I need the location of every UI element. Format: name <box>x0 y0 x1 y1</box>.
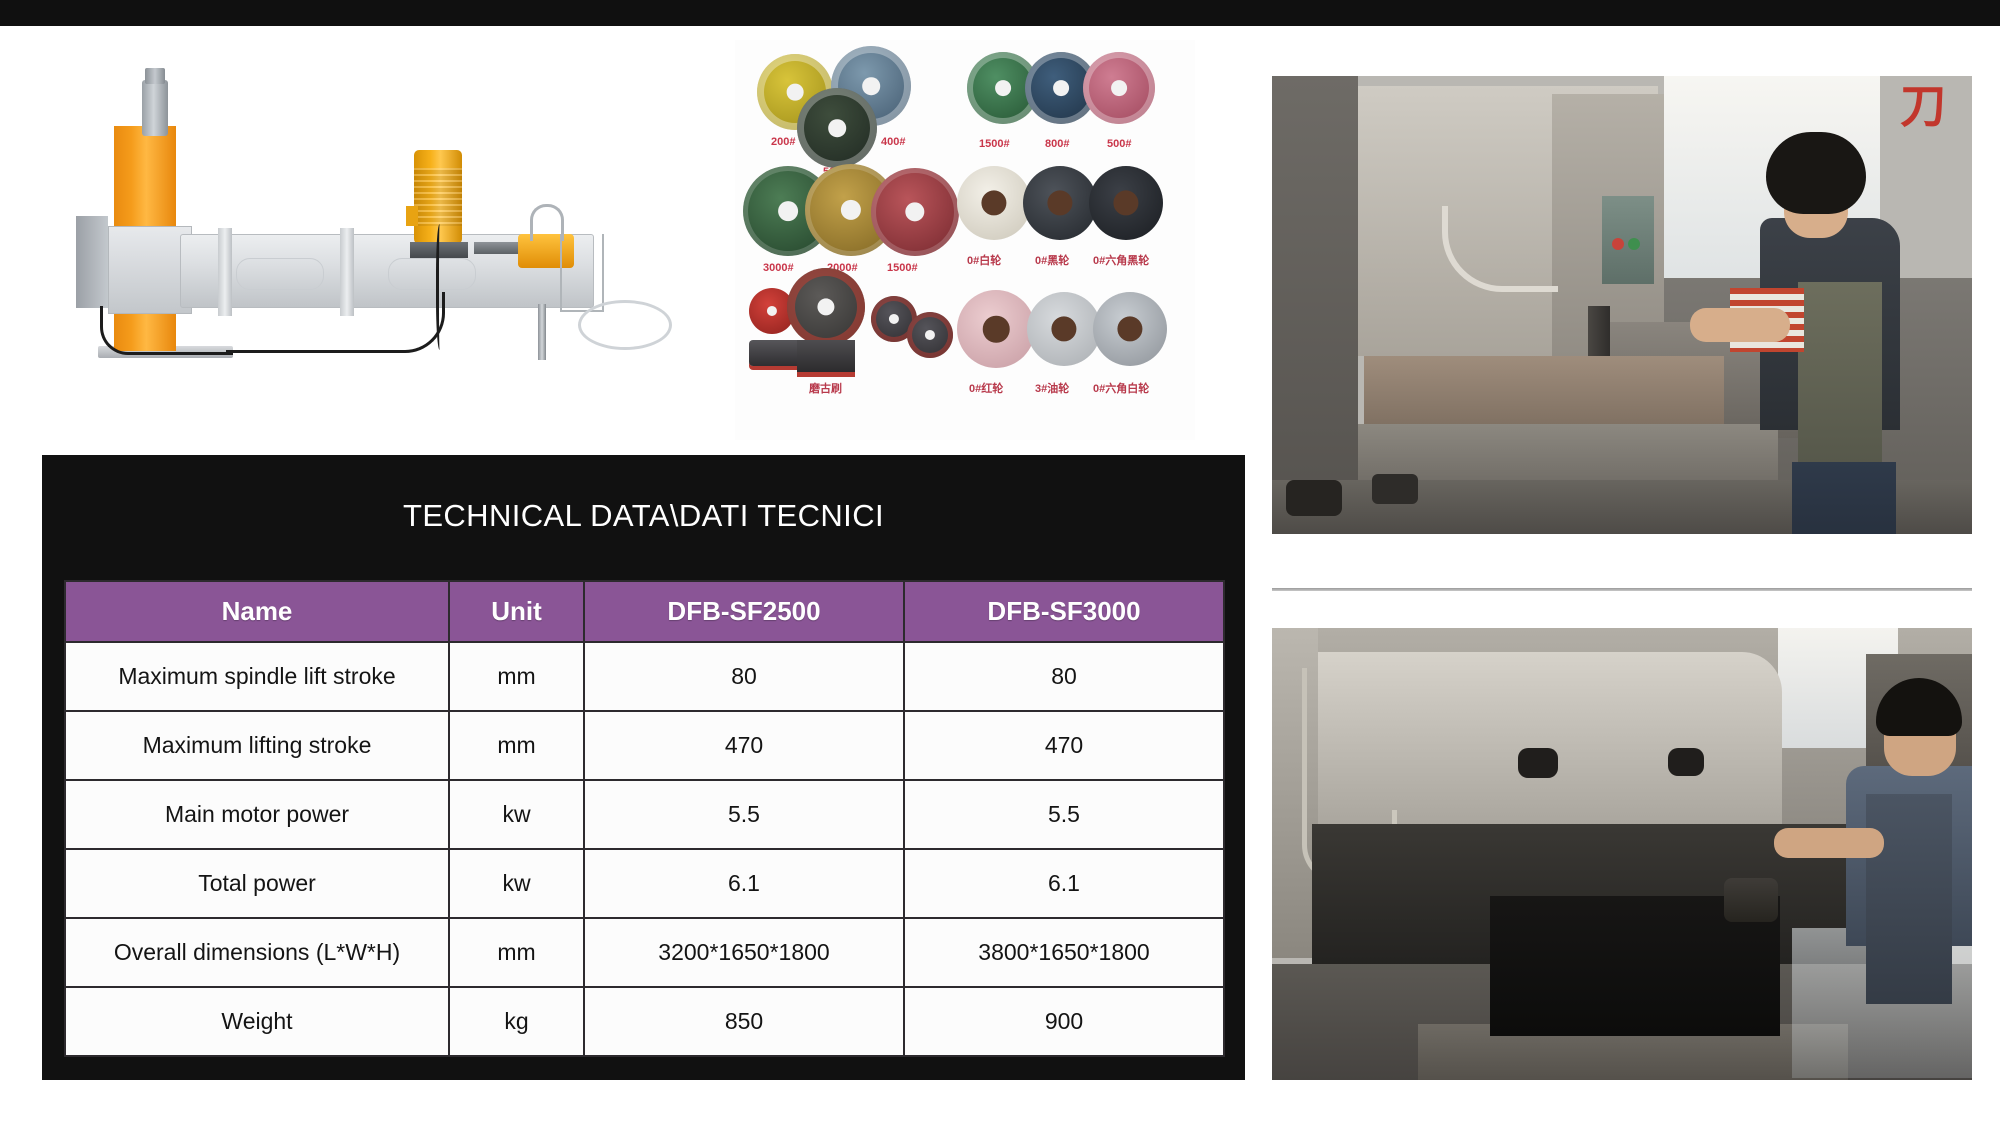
column-header-unit: Unit <box>449 581 584 642</box>
photo1-operator-arm <box>1690 308 1790 342</box>
photo2-operator-apron <box>1866 794 1952 1004</box>
machine-motor-cooling-fins <box>414 168 462 226</box>
workshop-photo-bottom <box>1272 628 1972 1080</box>
cell-unit: mm <box>449 711 584 780</box>
photo2-operator-arm <box>1774 828 1884 858</box>
machine-product-photo <box>40 28 680 438</box>
grit-label-400: 400# <box>881 136 905 148</box>
photo2-casting-hole-right <box>1668 748 1704 776</box>
machine-column-cap <box>145 68 165 84</box>
machine-back-plate <box>76 216 108 308</box>
machine-column-shaft <box>142 80 168 136</box>
cell-spec-name: Main motor power <box>65 780 449 849</box>
machine-power-cable-motor <box>436 224 445 350</box>
machine-power-cable-left <box>100 306 233 355</box>
cell-spec-name: Weight <box>65 987 449 1056</box>
cell-spec-name: Maximum lifting stroke <box>65 711 449 780</box>
machine-motor-junction-box <box>406 206 418 226</box>
table-header: Name Unit DFB-SF2500 DFB-SF3000 <box>65 581 1224 642</box>
grit-label-200: 200# <box>771 136 795 148</box>
grinding-disc-50 <box>797 88 877 168</box>
cell-sf3000: 470 <box>904 711 1224 780</box>
antique-brush-block <box>749 340 803 366</box>
wheel-label-hex-black: 0#六角黑轮 <box>1093 252 1149 268</box>
buff-wheel-white <box>957 166 1031 240</box>
workshop-photo-top: 刀 <box>1272 76 1972 534</box>
grit-label-1500b: 1500# <box>887 262 918 274</box>
cell-spec-name: Total power <box>65 849 449 918</box>
table-header-row: Name Unit DFB-SF2500 DFB-SF3000 <box>65 581 1224 642</box>
machine-head-linkage <box>474 242 520 254</box>
buff-wheel-hex-white <box>1093 292 1167 366</box>
top-black-bar <box>0 0 2000 26</box>
antique-brush-pair-b <box>907 312 953 358</box>
technical-data-panel: TECHNICAL DATA\DATI TECNICI Name Unit DF… <box>42 455 1245 1080</box>
antique-brush-large <box>787 268 865 346</box>
cell-sf2500: 3200*1650*1800 <box>584 918 904 987</box>
wheel-label-hex-white: 0#六角白轮 <box>1093 380 1149 396</box>
table-row: Maximum lifting stroke mm 470 470 <box>65 711 1224 780</box>
abrasive-tools-photo: 200# 50# 400# 1500# 800# 500# 3000# 2000… <box>735 40 1195 440</box>
photo1-machine-foot-a <box>1372 474 1418 504</box>
photo1-operator <box>1742 132 1912 534</box>
cell-sf2500: 5.5 <box>584 780 904 849</box>
wheel-label-black: 0#黑轮 <box>1035 252 1069 268</box>
photo1-red-sign: 刀 <box>1900 82 1956 132</box>
buff-wheel-hex-black <box>1089 166 1163 240</box>
table-row: Overall dimensions (L*W*H) mm 3200*1650*… <box>65 918 1224 987</box>
cell-unit: kw <box>449 780 584 849</box>
photo1-start-button <box>1628 238 1640 250</box>
photo1-stop-button <box>1612 238 1624 250</box>
column-header-dfb-sf3000: DFB-SF3000 <box>904 581 1224 642</box>
cell-sf3000: 5.5 <box>904 780 1224 849</box>
cell-unit: kg <box>449 987 584 1056</box>
table-row: Weight kg 850 900 <box>65 987 1224 1056</box>
cell-unit: mm <box>449 642 584 711</box>
buff-wheel-pink <box>957 290 1035 368</box>
table-body: Maximum spindle lift stroke mm 80 80 Max… <box>65 642 1224 1056</box>
page-title: TECHNICAL DATA\DATI TECNICI <box>42 498 1245 534</box>
photo2-casting-hole-left <box>1518 748 1558 778</box>
grit-label-1500: 1500# <box>979 138 1010 150</box>
photo1-machine-foot-b <box>1286 480 1342 516</box>
grit-label-800: 800# <box>1045 138 1069 150</box>
machine-arm-recess-right <box>388 258 476 290</box>
flex-pad-1500 <box>871 168 959 256</box>
cell-sf3000: 80 <box>904 642 1224 711</box>
cell-sf2500: 80 <box>584 642 904 711</box>
grit-label-3000: 3000# <box>763 262 794 274</box>
photo1-operator-hair <box>1766 132 1866 214</box>
antique-brush-pedestal <box>797 340 855 372</box>
buff-wheel-black <box>1023 166 1097 240</box>
photo2-operator-hair <box>1876 678 1962 736</box>
machine-head-fork <box>560 234 604 312</box>
table-row: Total power kw 6.1 6.1 <box>65 849 1224 918</box>
table-row: Maximum spindle lift stroke mm 80 80 <box>65 642 1224 711</box>
cell-sf2500: 850 <box>584 987 904 1056</box>
wheel-label-red: 0#红轮 <box>969 380 1003 396</box>
wheel-label-white: 0#白轮 <box>967 252 1001 268</box>
photo2-spindle-head <box>1724 878 1778 922</box>
cell-spec-name: Overall dimensions (L*W*H) <box>65 918 449 987</box>
photo1-stone-slab <box>1364 356 1724 432</box>
resin-pad-500 <box>1083 52 1155 124</box>
cell-unit: kw <box>449 849 584 918</box>
machine-power-cable-arm <box>226 292 445 353</box>
table-row: Main motor power kw 5.5 5.5 <box>65 780 1224 849</box>
cell-sf3000: 3800*1650*1800 <box>904 918 1224 987</box>
photo1-left-wall <box>1272 76 1358 534</box>
cell-sf3000: 900 <box>904 987 1224 1056</box>
column-header-name: Name <box>65 581 449 642</box>
machine-handle-loop <box>578 300 672 350</box>
machine-spindle <box>538 304 546 360</box>
photo-divider-line <box>1272 588 1972 591</box>
cell-sf3000: 6.1 <box>904 849 1224 918</box>
machine-arm-recess-left <box>236 258 324 290</box>
column-header-dfb-sf2500: DFB-SF2500 <box>584 581 904 642</box>
photo1-operator-legs <box>1792 462 1896 534</box>
buff-wheel-grey-oil <box>1027 292 1101 366</box>
machine-water-hose <box>530 204 564 241</box>
brush-label: 磨古刷 <box>809 380 842 396</box>
cell-unit: mm <box>449 918 584 987</box>
cell-sf2500: 6.1 <box>584 849 904 918</box>
wheel-label-oil: 3#油轮 <box>1035 380 1069 396</box>
photo2-operator <box>1862 678 1972 1008</box>
technical-data-table: Name Unit DFB-SF2500 DFB-SF3000 Maximum … <box>64 580 1225 1057</box>
cell-spec-name: Maximum spindle lift stroke <box>65 642 449 711</box>
grit-label-500: 500# <box>1107 138 1131 150</box>
cell-sf2500: 470 <box>584 711 904 780</box>
